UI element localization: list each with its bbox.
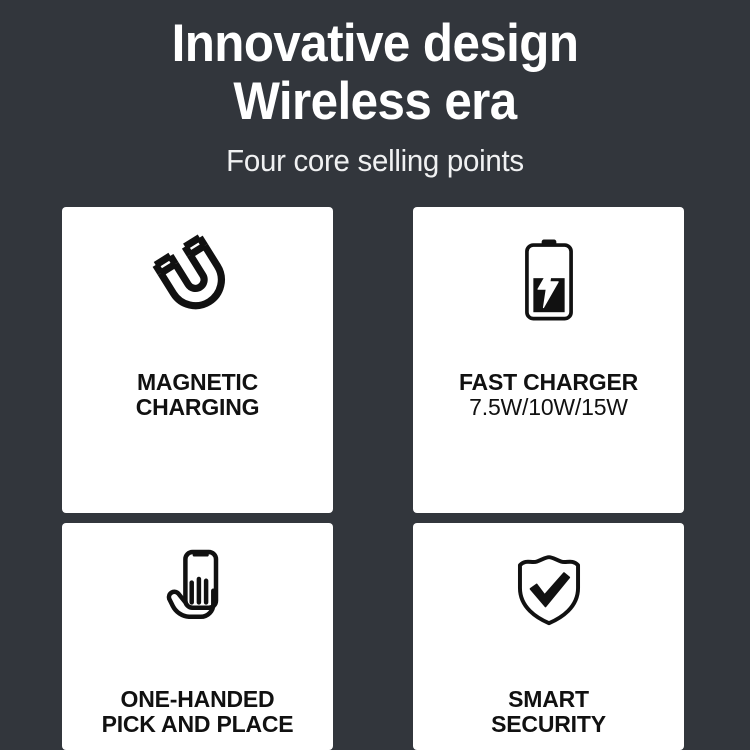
battery-charging-icon <box>413 225 684 335</box>
feature-card-one-handed-pick-and-place[interactable]: ONE-HANDED PICK AND PLACE <box>62 523 333 750</box>
feature-card-label: FAST CHARGER 7.5W/10W/15W <box>413 370 684 420</box>
header: Innovative design Wireless era Four core… <box>0 0 750 181</box>
label-line-2: 7.5W/10W/15W <box>413 395 684 420</box>
headline: Innovative design Wireless era <box>26 0 724 131</box>
label-line-2: CHARGING <box>62 395 333 420</box>
magnet-icon <box>62 225 333 335</box>
label-line-1: SMART <box>413 687 684 712</box>
subheadline: Four core selling points <box>19 131 732 181</box>
promo-poster: Innovative design Wireless era Four core… <box>0 0 750 750</box>
feature-card-smart-security[interactable]: SMART SECURITY <box>413 523 684 750</box>
label-line-2: SECURITY <box>413 712 684 737</box>
headline-line-2: Wireless era <box>26 73 724 131</box>
feature-card-label: MAGNETIC CHARGING <box>62 370 333 420</box>
label-line-1: ONE-HANDED <box>62 687 333 712</box>
headline-line-1: Innovative design <box>26 0 724 73</box>
shield-check-icon <box>413 535 684 641</box>
label-line-1: MAGNETIC <box>62 370 333 395</box>
hand-holding-phone-icon <box>62 535 333 641</box>
feature-card-label: ONE-HANDED PICK AND PLACE <box>62 687 333 737</box>
feature-card-label: SMART SECURITY <box>413 687 684 737</box>
feature-card-magnetic-charging[interactable]: MAGNETIC CHARGING <box>62 207 333 513</box>
label-line-1: FAST CHARGER <box>413 370 684 395</box>
label-line-2: PICK AND PLACE <box>62 712 333 737</box>
feature-card-fast-charger[interactable]: FAST CHARGER 7.5W/10W/15W <box>413 207 684 513</box>
